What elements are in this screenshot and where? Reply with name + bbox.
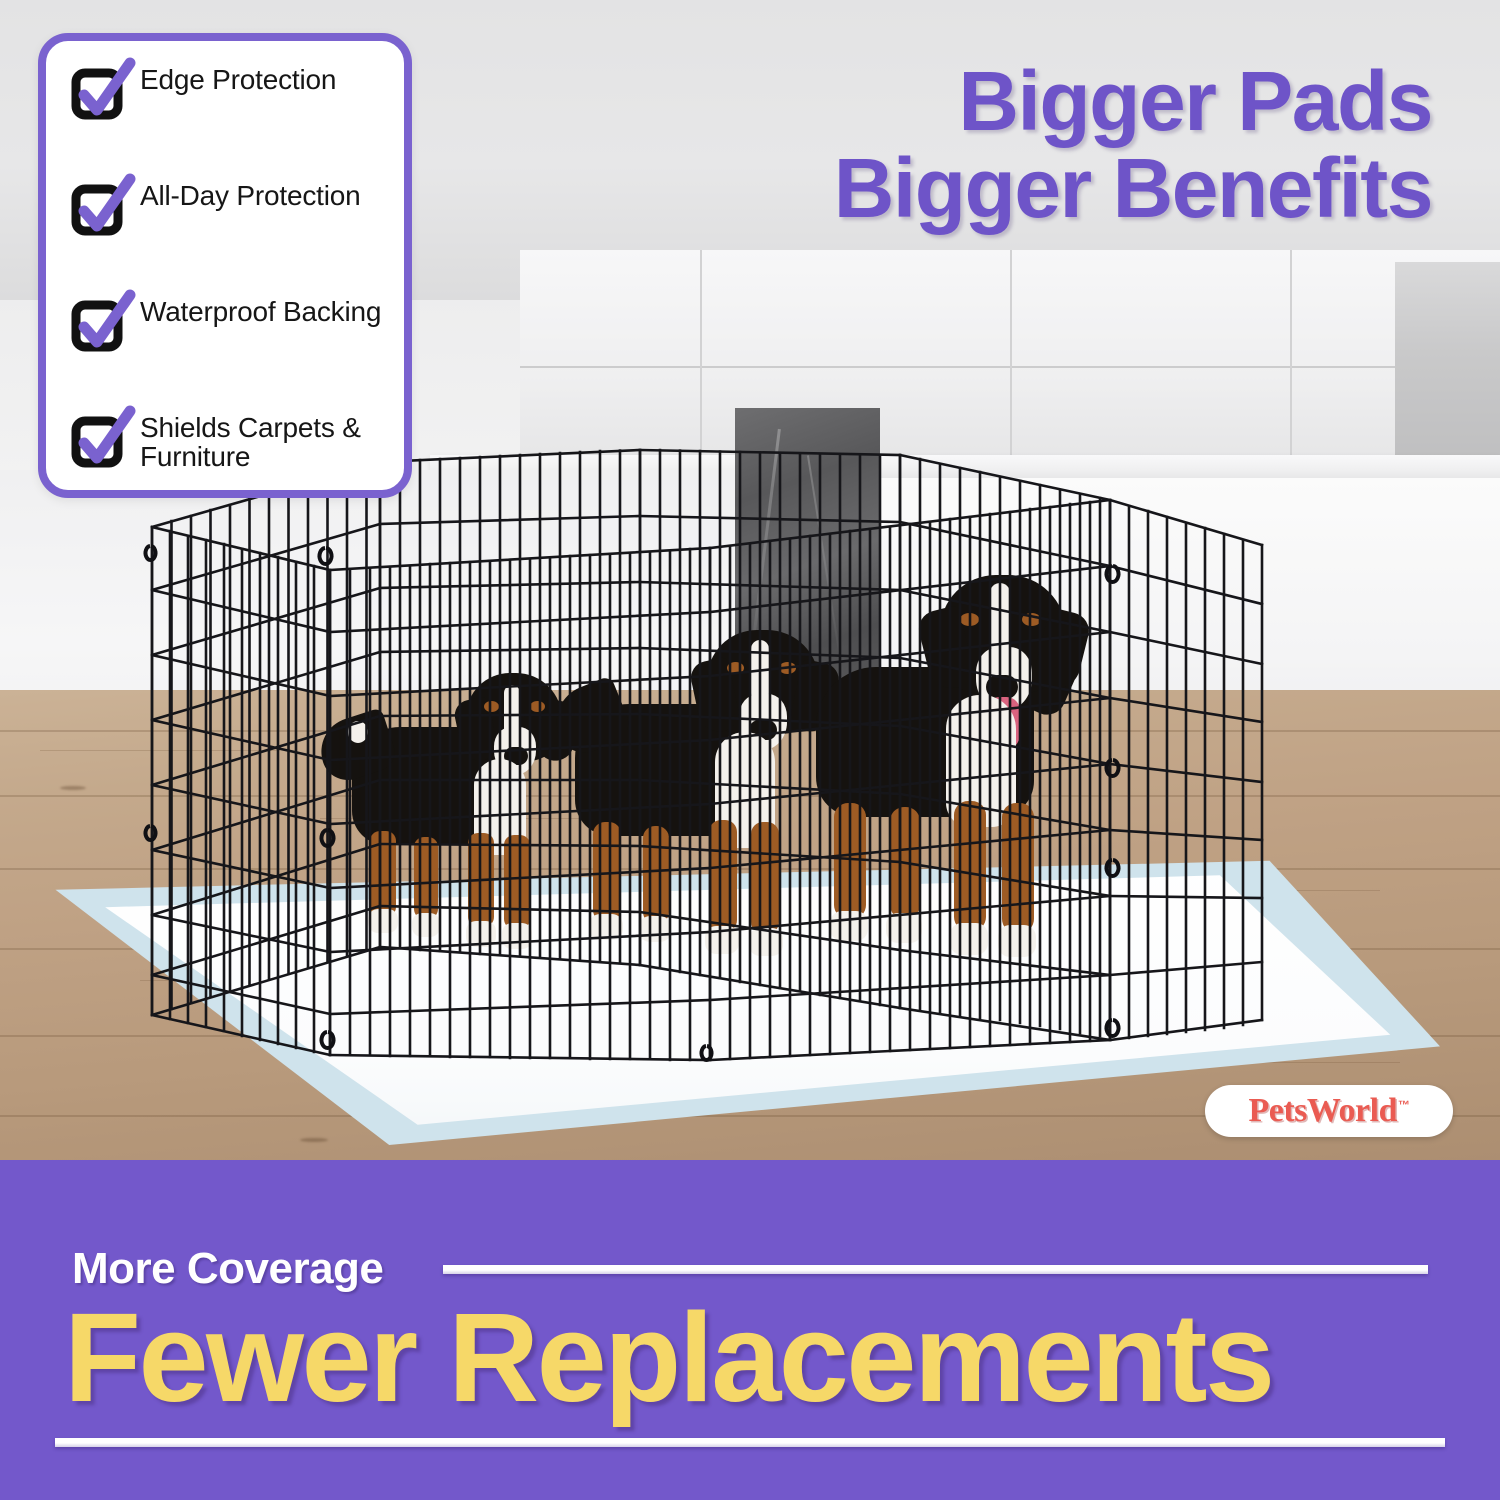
brand-name: PetsWorld (1249, 1092, 1397, 1129)
banner-divider-top (443, 1265, 1428, 1274)
trademark-symbol: ™ (1398, 1098, 1410, 1112)
dog-left (318, 655, 588, 1015)
checkbox-checked-icon (72, 299, 124, 351)
cabinet-seam (1290, 250, 1292, 460)
feature-checklist-card: Edge Protection All-Day Protection Water… (38, 33, 412, 498)
feature-label: Edge Protection (140, 63, 336, 95)
bottom-banner: More Coverage Fewer Replacements (0, 1160, 1500, 1500)
cabinet-dark-panel (1395, 262, 1500, 462)
feature-label: All-Day Protection (140, 179, 360, 211)
cabinet-seam (1010, 250, 1012, 460)
feature-item: Edge Protection (72, 63, 386, 119)
checkbox-checked-icon (72, 67, 124, 119)
feature-item: Shields Carpets & Furniture (72, 411, 386, 472)
feature-item: All-Day Protection (72, 179, 386, 235)
feature-label: Shields Carpets & Furniture (140, 411, 386, 472)
main-headline: Bigger Pads Bigger Benefits (732, 58, 1432, 233)
headline-line-2: Bigger Benefits (732, 145, 1432, 232)
feature-item: Waterproof Backing (72, 295, 386, 351)
cabinet-seam (700, 250, 702, 460)
checkbox-checked-icon (72, 183, 124, 235)
checkbox-checked-icon (72, 415, 124, 467)
headline-line-1: Bigger Pads (958, 54, 1432, 148)
brand-logo: PetsWorld™ (1205, 1085, 1453, 1137)
banner-headline: Fewer Replacements (64, 1295, 1444, 1421)
feature-label: Waterproof Backing (140, 295, 381, 327)
dog-right (790, 555, 1130, 1025)
banner-divider-bottom (55, 1438, 1445, 1447)
brand-logo-text: PetsWorld™ (1249, 1092, 1410, 1130)
product-infographic: PetsWorld™ Bigger Pads Bigger Benefits E… (0, 0, 1500, 1500)
